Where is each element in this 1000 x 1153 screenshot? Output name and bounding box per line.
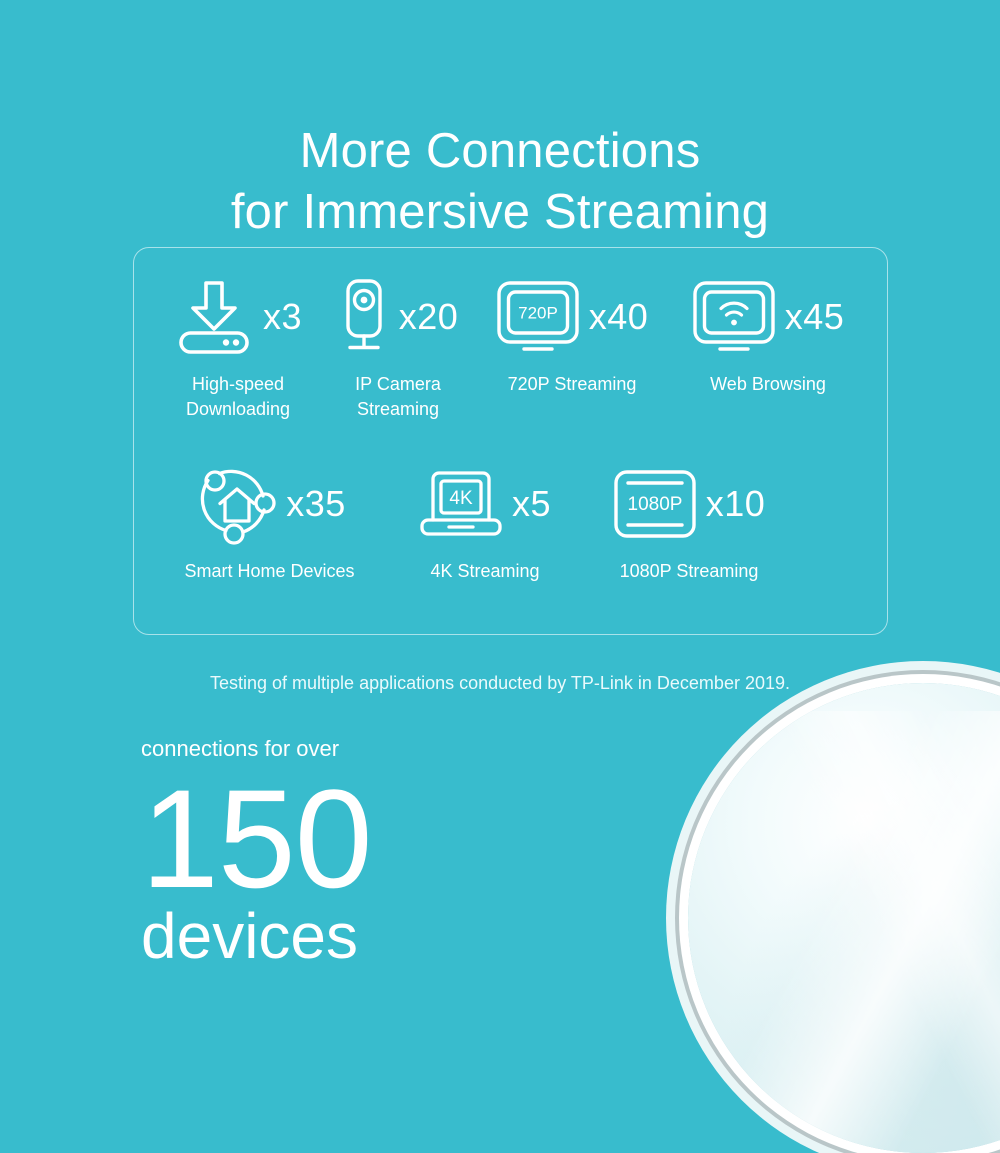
stat-item-high-speed-downloading: x3 High-speed Downloading — [154, 274, 322, 422]
stat-multiplier: x5 — [512, 486, 551, 522]
stat-multiplier: x45 — [785, 299, 845, 335]
svg-text:4K: 4K — [449, 488, 473, 509]
stat-label: High-speed Downloading — [186, 372, 290, 422]
connections-caption: connections for over — [141, 735, 372, 763]
stat-top: x35 — [193, 461, 346, 547]
stat-label: 4K Streaming — [430, 559, 539, 584]
download-router-icon — [174, 279, 254, 355]
stat-multiplier: x35 — [286, 486, 346, 522]
stat-top: x45 — [692, 274, 845, 360]
stat-label: 720P Streaming — [508, 372, 637, 397]
stat-multiplier: x20 — [399, 299, 459, 335]
stat-top: x3 — [174, 274, 302, 360]
footnote-text: Testing of multiple applications conduct… — [0, 673, 1000, 694]
device-count-unit: devices — [141, 901, 372, 971]
page-title: More Connections for Immersive Streaming — [0, 121, 1000, 243]
stat-top: 1080P x10 — [613, 461, 766, 547]
stat-label: 1080P Streaming — [620, 559, 759, 584]
stat-label: Smart Home Devices — [184, 559, 354, 584]
bottom-stat-block: connections for over 150 devices — [141, 735, 372, 971]
stat-multiplier: x40 — [589, 299, 649, 335]
stat-item-web-browsing: x45 Web Browsing — [670, 274, 866, 397]
laptop-4k-icon: 4K — [419, 470, 503, 538]
product-photo — [688, 683, 1000, 1153]
smart-home-network-icon — [193, 464, 277, 544]
stat-multiplier: x3 — [263, 299, 302, 335]
stat-top: 4K x5 — [419, 461, 551, 547]
stat-label: IP Camera Streaming — [355, 372, 441, 422]
stat-multiplier: x10 — [706, 486, 766, 522]
stat-top: x20 — [338, 274, 459, 360]
monitor-wifi-icon — [692, 280, 776, 354]
stat-item-720p-streaming: 720P x40 720P Streaming — [474, 274, 670, 397]
ip-camera-icon — [338, 278, 390, 356]
stat-top: 720P x40 — [496, 274, 649, 360]
svg-text:1080P: 1080P — [627, 494, 682, 515]
device-count-number: 150 — [141, 779, 372, 899]
tablet-1080p-icon: 1080P — [613, 469, 697, 539]
stats-row-2: x35 Smart Home Devices 4K x5 4K Streami — [134, 461, 905, 584]
stat-item-1080p-streaming: 1080P x10 1080P Streaming — [583, 461, 795, 584]
product-photo-highlight — [688, 711, 1000, 1153]
stat-item-smart-home-devices: x35 Smart Home Devices — [152, 461, 387, 584]
stat-label: Web Browsing — [710, 372, 826, 397]
svg-text:720P: 720P — [518, 304, 558, 323]
stat-item-4k-streaming: 4K x5 4K Streaming — [387, 461, 583, 584]
headline-line-2: for Immersive Streaming — [0, 182, 1000, 243]
stats-row-1: x3 High-speed Downloading x20 IP Camer — [134, 274, 907, 422]
monitor-720p-icon: 720P — [496, 280, 580, 354]
stat-item-ip-camera-streaming: x20 IP Camera Streaming — [322, 274, 474, 422]
headline-line-1: More Connections — [0, 121, 1000, 182]
stats-panel: x3 High-speed Downloading x20 IP Camer — [133, 247, 888, 635]
